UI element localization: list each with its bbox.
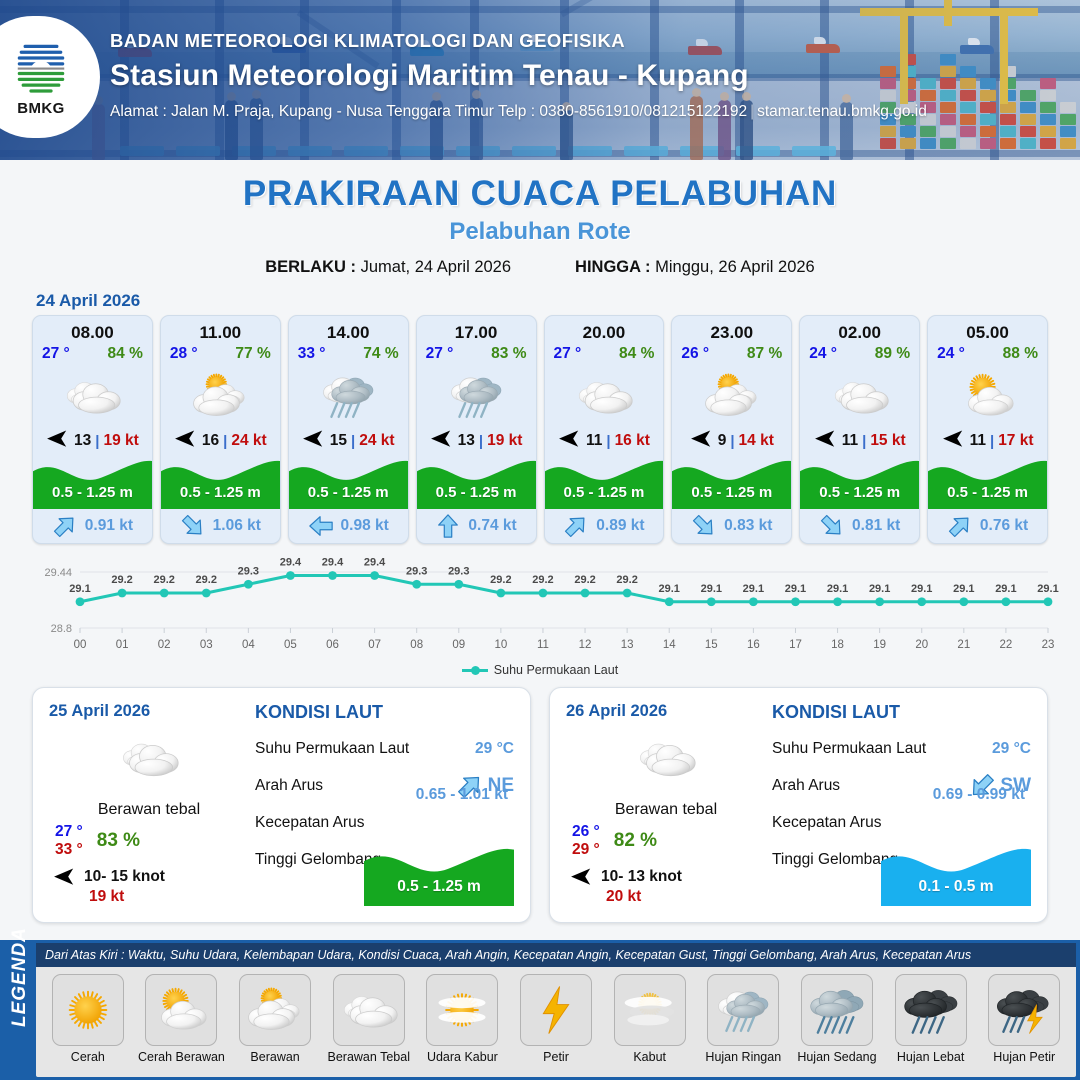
wind-gust-separator: | [606, 433, 610, 450]
daily-wind-speed: 10- 15 knot [84, 868, 165, 886]
sst-value: 29 °C [475, 740, 514, 758]
current-direction-label: Arah Arus [772, 777, 840, 795]
legend-item-label: Cerah [71, 1050, 105, 1064]
cerah-berawan-icon [928, 365, 1047, 427]
svg-text:21: 21 [957, 639, 970, 651]
daily-date: 25 April 2026 [49, 702, 249, 721]
wind-direction-icon [690, 430, 714, 452]
berawan-tebal-icon [566, 727, 766, 789]
card-time: 08.00 [33, 316, 152, 345]
svg-text:29.2: 29.2 [111, 574, 132, 586]
hourly-card: 02.00 24 ° 89 % 11 | [799, 315, 920, 544]
daily-temp-max: 29 ° [572, 841, 600, 859]
card-current-row: 0.81 kt [800, 509, 919, 543]
svg-text:19: 19 [873, 639, 886, 651]
cerah-icon [52, 974, 124, 1046]
current-speed-value: 0.65 - 1.01 kt [416, 786, 508, 804]
card-time: 17.00 [417, 316, 536, 345]
wind-gust-separator: | [351, 433, 355, 450]
current-direction-icon [691, 513, 717, 539]
wave-height-label: Tinggi Gelombang [772, 851, 898, 869]
daily-sea-conditions: KONDISI LAUT Suhu Permukaan Laut 29 °C A… [249, 702, 514, 908]
card-wind-row: 15 | 24 kt [289, 427, 408, 455]
legend-side-bar: LEGENDA [0, 940, 36, 1080]
card-time: 05.00 [928, 316, 1047, 345]
card-wave-value: 0.5 - 1.25 m [545, 484, 664, 501]
sst-row: Suhu Permukaan Laut 29 °C [772, 730, 1031, 767]
card-current-speed: 0.91 kt [85, 517, 133, 535]
wind-direction-icon [814, 430, 838, 447]
svg-text:08: 08 [410, 639, 423, 651]
sea-conditions-title: KONDISI LAUT [255, 702, 514, 723]
validity-period: BERLAKU : Jumat, 24 April 2026 HINGGA : … [0, 258, 1080, 277]
card-wind-gust: 14 kt [739, 432, 774, 450]
daily-temp-min: 26 ° [572, 823, 600, 841]
card-humidity: 84 % [108, 345, 143, 363]
hujan-lebat-icon [895, 974, 967, 1046]
card-temp-humidity-row: 27 ° 84 % [545, 345, 664, 365]
legend-item-label: Berawan Tebal [328, 1050, 410, 1064]
svg-text:29.1: 29.1 [827, 583, 848, 595]
card-time: 14.00 [289, 316, 408, 345]
svg-text:12: 12 [579, 639, 592, 651]
legend-body: Dari Atas Kiri : Waktu, Suhu Udara, Kele… [36, 943, 1076, 1077]
legend-section: LEGENDA Dari Atas Kiri : Waktu, Suhu Uda… [0, 940, 1080, 1080]
daily-wave-band: 0.1 - 0.5 m [881, 842, 1031, 906]
wind-gust-separator: | [479, 433, 483, 450]
card-wind-speed: 13 [74, 432, 91, 450]
svg-text:18: 18 [831, 639, 844, 651]
daily-temp-min: 27 ° [55, 823, 83, 841]
wind-direction-icon [302, 430, 326, 452]
card-temp-humidity-row: 27 ° 84 % [33, 345, 152, 365]
current-speed-row: Kecepatan Arus [255, 804, 514, 841]
daily-condition: Berawan tebal [566, 801, 766, 819]
agency-name: BADAN METEOROLOGI KLIMATOLOGI DAN GEOFIS… [110, 30, 927, 52]
wind-direction-icon [430, 430, 454, 452]
legend-item-label: Hujan Petir [993, 1050, 1055, 1064]
daily-temp-column: 27 ° 33 ° [55, 823, 83, 860]
page-title: PRAKIRAAN CUACA PELABUHAN [0, 174, 1080, 214]
station-address: Alamat : Jalan M. Praja, Kupang - Nusa T… [110, 103, 747, 120]
card-wind-row: 9 | 14 kt [672, 427, 791, 455]
hourly-forecast-cards: 08.00 27 ° 84 % 13 | [0, 315, 1080, 544]
cerah-berawan-icon [145, 974, 217, 1046]
svg-text:23: 23 [1042, 639, 1055, 651]
svg-text:07: 07 [368, 639, 381, 651]
card-current-speed: 1.06 kt [213, 517, 261, 535]
card-current-row: 1.06 kt [161, 509, 280, 543]
card-current-speed: 0.74 kt [468, 517, 516, 535]
hourly-card: 08.00 27 ° 84 % 13 | [32, 315, 153, 544]
card-current-row: 0.83 kt [672, 509, 791, 543]
svg-text:28.8: 28.8 [51, 623, 72, 635]
card-humidity: 77 % [235, 345, 270, 363]
valid-to-label: HINGGA : [575, 258, 650, 276]
card-current-speed: 0.89 kt [596, 517, 644, 535]
daily-wind-speed: 10- 13 knot [601, 868, 682, 886]
wind-direction-icon [814, 430, 838, 452]
berawan-icon [239, 974, 311, 1046]
current-direction-icon [308, 513, 334, 539]
card-wind-speed: 11 [586, 432, 602, 450]
legend-item: Hujan Lebat [887, 974, 975, 1064]
svg-text:22: 22 [1000, 639, 1013, 651]
sst-row: Suhu Permukaan Laut 29 °C [255, 730, 514, 767]
wind-gust-separator: | [862, 433, 866, 450]
card-current-speed: 0.81 kt [852, 517, 900, 535]
card-humidity: 84 % [619, 345, 654, 363]
card-wave-height: 0.5 - 1.25 m [161, 455, 280, 509]
hujan-sedang-icon [801, 974, 873, 1046]
svg-text:06: 06 [326, 639, 339, 651]
card-temperature: 27 ° [42, 345, 70, 363]
svg-text:05: 05 [284, 639, 297, 651]
hourly-date-label: 24 April 2026 [36, 291, 1080, 311]
svg-text:29.2: 29.2 [490, 574, 511, 586]
legend-item: Cerah Berawan [138, 974, 226, 1064]
berawan-tebal-icon [545, 365, 664, 427]
legend-item: Berawan Tebal [325, 974, 413, 1064]
card-wind-speed: 13 [458, 432, 475, 450]
hourly-card: 17.00 27 ° 83 % [416, 315, 537, 544]
card-wind-gust: 17 kt [998, 432, 1033, 450]
wind-direction-icon [570, 868, 594, 885]
card-temperature: 28 ° [170, 345, 198, 363]
svg-text:10: 10 [494, 639, 507, 651]
svg-text:09: 09 [452, 639, 465, 651]
daily-wave-band: 0.5 - 1.25 m [364, 842, 514, 906]
daily-wind-row: 10- 13 knot [566, 868, 766, 886]
bmkg-logo-text: BMKG [17, 100, 64, 117]
wind-direction-icon [942, 430, 966, 452]
legend-item-label: Cerah Berawan [138, 1050, 225, 1064]
valid-from-value: Jumat, 24 April 2026 [361, 258, 511, 276]
card-wind-row: 11 | 16 kt [545, 427, 664, 455]
card-wind-row: 13 | 19 kt [33, 427, 152, 455]
wind-direction-icon [558, 430, 582, 452]
daily-wind-gust: 19 kt [49, 888, 249, 906]
card-wave-value: 0.5 - 1.25 m [33, 484, 152, 501]
svg-text:29.2: 29.2 [196, 574, 217, 586]
wind-direction-icon [46, 430, 70, 447]
card-wind-row: 11 | 17 kt [928, 427, 1047, 455]
svg-text:11: 11 [537, 639, 549, 651]
svg-text:03: 03 [200, 639, 213, 651]
svg-text:00: 00 [74, 639, 87, 651]
legend-item: Cerah [44, 974, 132, 1064]
legend-item: Berawan [231, 974, 319, 1064]
station-name: Stasiun Meteorologi Maritim Tenau - Kupa… [110, 59, 927, 93]
card-wind-speed: 16 [202, 432, 219, 450]
card-humidity: 89 % [875, 345, 910, 363]
card-wave-height: 0.5 - 1.25 m [289, 455, 408, 509]
card-temp-humidity-row: 24 ° 89 % [800, 345, 919, 365]
svg-text:29.4: 29.4 [280, 557, 302, 569]
sst-value: 29 °C [992, 740, 1031, 758]
wind-direction-icon [46, 430, 70, 452]
card-current-row: 0.91 kt [33, 509, 152, 543]
daily-left-column: 26 April 2026 Berawan tebal 26 ° 2 [566, 702, 766, 908]
daily-humidity: 82 % [614, 830, 657, 852]
card-wave-value: 0.5 - 1.25 m [161, 484, 280, 501]
card-wind-gust: 19 kt [103, 432, 138, 450]
svg-text:29.2: 29.2 [574, 574, 595, 586]
sst-chart-svg: 29.4428.80001020304050607080910111213141… [18, 554, 1062, 662]
daily-forecast-panel: 25 April 2026 Berawan tebal 27 ° 3 [32, 687, 531, 923]
bmkg-logo-mark [10, 37, 72, 99]
legend-note: Dari Atas Kiri : Waktu, Suhu Udara, Kele… [36, 943, 1076, 967]
svg-text:29.1: 29.1 [911, 583, 932, 595]
card-wave-height: 0.5 - 1.25 m [417, 455, 536, 509]
daily-forecast-panel: 26 April 2026 Berawan tebal 26 ° 2 [549, 687, 1048, 923]
legend-item: Hujan Sedang [793, 974, 881, 1064]
chart-legend-marker [462, 669, 488, 672]
hourly-card: 11.00 28 ° 77 % 16 | [160, 315, 281, 544]
wind-direction-icon [174, 430, 198, 452]
svg-text:29.2: 29.2 [616, 574, 637, 586]
berawan-tebal-icon [333, 974, 405, 1046]
daily-wind-row: 10- 15 knot [49, 868, 249, 886]
hujan-ringan-icon [417, 365, 536, 427]
svg-text:29.1: 29.1 [69, 583, 90, 595]
svg-text:02: 02 [158, 639, 171, 651]
valid-to: HINGGA : Minggu, 26 April 2026 [575, 258, 815, 277]
wind-direction-icon [558, 430, 582, 447]
card-temp-humidity-row: 27 ° 83 % [417, 345, 536, 365]
card-wind-gust: 15 kt [870, 432, 905, 450]
daily-left-column: 25 April 2026 Berawan tebal 27 ° 3 [49, 702, 249, 908]
valid-to-value: Minggu, 26 April 2026 [655, 258, 815, 276]
sst-chart: 29.4428.80001020304050607080910111213141… [18, 554, 1062, 662]
svg-text:04: 04 [242, 639, 255, 651]
wind-direction-icon [302, 430, 326, 447]
svg-text:29.44: 29.44 [44, 567, 72, 579]
card-time: 02.00 [800, 316, 919, 345]
card-temperature: 26 ° [681, 345, 709, 363]
chart-legend-label: Suhu Permukaan Laut [494, 663, 618, 677]
card-wave-height: 0.5 - 1.25 m [800, 455, 919, 509]
card-wave-height: 0.5 - 1.25 m [672, 455, 791, 509]
current-direction-icon [435, 513, 461, 539]
card-temperature: 24 ° [809, 345, 837, 363]
card-current-row: 0.74 kt [417, 509, 536, 543]
card-temp-humidity-row: 24 ° 88 % [928, 345, 1047, 365]
berawan-tebal-icon [33, 365, 152, 427]
current-speed-row: Kecepatan Arus [772, 804, 1031, 841]
valid-from: BERLAKU : Jumat, 24 April 2026 [265, 258, 511, 277]
card-wave-value: 0.5 - 1.25 m [289, 484, 408, 501]
berawan-tebal-icon [800, 365, 919, 427]
card-temperature: 27 ° [426, 345, 454, 363]
card-wave-height: 0.5 - 1.25 m [545, 455, 664, 509]
daily-forecast-panels: 25 April 2026 Berawan tebal 27 ° 3 [0, 677, 1080, 923]
address-separator: | [747, 103, 757, 120]
svg-text:29.2: 29.2 [153, 574, 174, 586]
card-temp-humidity-row: 26 ° 87 % [672, 345, 791, 365]
hujan-ringan-icon [289, 365, 408, 427]
wind-direction-icon [430, 430, 454, 447]
wind-direction-icon [942, 430, 966, 447]
card-temperature: 33 ° [298, 345, 326, 363]
page-header: BMKG BADAN METEOROLOGI KLIMATOLOGI DAN G… [0, 0, 1080, 160]
station-website: stamar.tenau.bmkg.go.id [757, 103, 927, 120]
svg-text:01: 01 [116, 639, 129, 651]
card-humidity: 74 % [363, 345, 398, 363]
berawan-icon [161, 365, 280, 427]
wave-band-shape [364, 842, 514, 906]
wind-gust-separator: | [730, 433, 734, 450]
current-direction-icon [563, 513, 589, 539]
kabut-icon [614, 974, 686, 1046]
card-wind-row: 16 | 24 kt [161, 427, 280, 455]
sst-label: Suhu Permukaan Laut [255, 740, 409, 758]
card-humidity: 87 % [747, 345, 782, 363]
card-wind-row: 11 | 15 kt [800, 427, 919, 455]
wind-direction-icon [174, 430, 198, 447]
svg-text:29.1: 29.1 [659, 583, 680, 595]
forecast-title-block: PRAKIRAAN CUACA PELABUHAN Pelabuhan Rote… [0, 174, 1080, 277]
svg-text:29.1: 29.1 [869, 583, 890, 595]
card-wave-value: 0.5 - 1.25 m [800, 484, 919, 501]
svg-text:29.3: 29.3 [448, 565, 469, 577]
svg-text:16: 16 [747, 639, 760, 651]
current-direction-icon [52, 513, 78, 539]
legend-item-label: Hujan Ringan [705, 1050, 781, 1064]
svg-text:29.4: 29.4 [322, 557, 344, 569]
daily-date: 26 April 2026 [566, 702, 766, 721]
svg-text:14: 14 [663, 639, 676, 651]
card-current-row: 0.98 kt [289, 509, 408, 543]
legend-items: Cerah Cerah Berawan [36, 967, 1076, 1064]
current-direction-icon [180, 513, 206, 539]
valid-from-label: BERLAKU : [265, 258, 356, 276]
card-temp-humidity-row: 28 ° 77 % [161, 345, 280, 365]
svg-text:29.1: 29.1 [953, 583, 974, 595]
daily-condition: Berawan tebal [49, 801, 249, 819]
current-speed-value: 0.69 - 0.99 kt [933, 786, 1025, 804]
svg-text:13: 13 [621, 639, 634, 651]
hourly-card: 23.00 26 ° 87 % 9 | [671, 315, 792, 544]
petir-icon [520, 974, 592, 1046]
hourly-card: 14.00 33 ° 74 % [288, 315, 409, 544]
card-wave-value: 0.5 - 1.25 m [928, 484, 1047, 501]
card-wind-gust: 16 kt [615, 432, 650, 450]
svg-text:29.3: 29.3 [238, 565, 259, 577]
hourly-card: 05.00 24 ° 88 % 11 | 17 kt [927, 315, 1048, 544]
card-time: 11.00 [161, 316, 280, 345]
card-wind-speed: 11 [970, 432, 986, 450]
svg-text:20: 20 [915, 639, 928, 651]
current-direction-label: Arah Arus [255, 777, 323, 795]
card-wind-speed: 9 [718, 432, 727, 450]
current-direction-icon [947, 513, 973, 539]
card-current-row: 0.76 kt [928, 509, 1047, 543]
daily-temp-max: 33 ° [55, 841, 83, 859]
hujan-ringan-icon [707, 974, 779, 1046]
current-speed-label: Kecepatan Arus [772, 814, 881, 832]
wind-gust-separator: | [990, 433, 994, 450]
daily-temp-column: 26 ° 29 ° [572, 823, 600, 860]
svg-text:29.1: 29.1 [1037, 583, 1058, 595]
svg-text:15: 15 [705, 639, 718, 651]
daily-sea-conditions: KONDISI LAUT Suhu Permukaan Laut 29 °C A… [766, 702, 1031, 908]
card-wave-value: 0.5 - 1.25 m [417, 484, 536, 501]
daily-wind-gust: 20 kt [566, 888, 766, 906]
udara-kabur-icon [426, 974, 498, 1046]
wind-direction-icon [690, 430, 714, 447]
hujan-petir-icon [988, 974, 1060, 1046]
daily-wave-value: 0.1 - 0.5 m [881, 878, 1031, 896]
wave-band-shape [881, 842, 1031, 906]
daily-wave-value: 0.5 - 1.25 m [364, 878, 514, 896]
card-wave-height: 0.5 - 1.25 m [33, 455, 152, 509]
chart-legend: Suhu Permukaan Laut [0, 663, 1080, 677]
card-current-row: 0.89 kt [545, 509, 664, 543]
wave-height-label: Tinggi Gelombang [255, 851, 381, 869]
sea-conditions-title: KONDISI LAUT [772, 702, 1031, 723]
legend-item: Petir [512, 974, 600, 1064]
station-address-line: Alamat : Jalan M. Praja, Kupang - Nusa T… [110, 103, 927, 121]
svg-text:29.3: 29.3 [406, 565, 427, 577]
daily-temp-humidity: 27 ° 33 ° 83 % [49, 823, 249, 860]
berawan-icon [672, 365, 791, 427]
daily-temp-humidity: 26 ° 29 ° 82 % [566, 823, 766, 860]
legend-item-label: Hujan Lebat [897, 1050, 964, 1064]
card-time: 23.00 [672, 316, 791, 345]
svg-text:29.1: 29.1 [743, 583, 764, 595]
wind-gust-separator: | [223, 433, 227, 450]
legend-item-label: Hujan Sedang [797, 1050, 876, 1064]
svg-text:29.1: 29.1 [785, 583, 806, 595]
wind-direction-icon [53, 868, 77, 885]
svg-text:29.1: 29.1 [701, 583, 722, 595]
current-direction-icon [819, 513, 845, 539]
legend-item-label: Kabut [633, 1050, 666, 1064]
svg-text:29.1: 29.1 [995, 583, 1016, 595]
card-current-speed: 0.83 kt [724, 517, 772, 535]
card-humidity: 88 % [1003, 345, 1038, 363]
legend-item: Udara Kabur [419, 974, 507, 1064]
legend-item-label: Petir [543, 1050, 569, 1064]
daily-humidity: 83 % [97, 830, 140, 852]
svg-text:29.4: 29.4 [364, 557, 386, 569]
hourly-card: 20.00 27 ° 84 % 11 | [544, 315, 665, 544]
card-wind-row: 13 | 19 kt [417, 427, 536, 455]
card-current-speed: 0.76 kt [980, 517, 1028, 535]
sst-label: Suhu Permukaan Laut [772, 740, 926, 758]
svg-text:29.2: 29.2 [532, 574, 553, 586]
card-wind-gust: 19 kt [487, 432, 522, 450]
card-temp-humidity-row: 33 ° 74 % [289, 345, 408, 365]
legend-item: Hujan Ringan [699, 974, 787, 1064]
card-humidity: 83 % [491, 345, 526, 363]
card-wind-speed: 15 [330, 432, 347, 450]
wind-gust-separator: | [95, 433, 99, 450]
card-wave-value: 0.5 - 1.25 m [672, 484, 791, 501]
svg-text:17: 17 [789, 639, 802, 651]
card-wind-gust: 24 kt [231, 432, 266, 450]
card-wave-height: 0.5 - 1.25 m [928, 455, 1047, 509]
card-temperature: 24 ° [937, 345, 965, 363]
legend-item: Hujan Petir [980, 974, 1068, 1064]
legend-side-title: LEGENDA [9, 931, 31, 1027]
card-wind-speed: 11 [842, 432, 858, 450]
card-current-speed: 0.98 kt [341, 517, 389, 535]
legend-item-label: Udara Kabur [427, 1050, 498, 1064]
card-wind-gust: 24 kt [359, 432, 394, 450]
header-text-block: BADAN METEOROLOGI KLIMATOLOGI DAN GEOFIS… [110, 30, 927, 121]
